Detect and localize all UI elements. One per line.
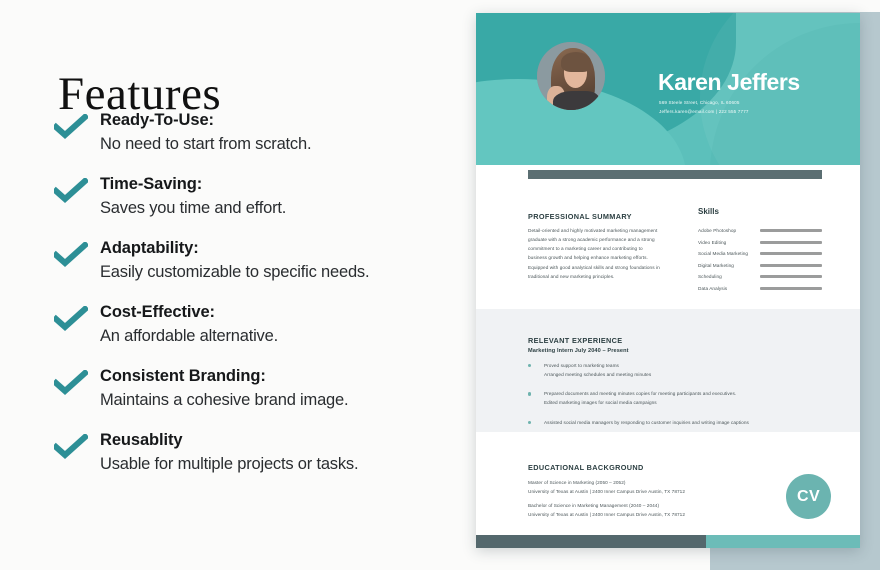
footer-dark-segment [476, 535, 706, 548]
header-divider-bar [528, 170, 822, 179]
skills-list: Adobe Photoshop Video Editing Social Med… [698, 225, 822, 294]
avatar-photo [537, 42, 605, 110]
footer-teal-segment [706, 535, 860, 548]
list-item: Prepared documents and meeting minutes c… [528, 389, 818, 407]
cv-badge: CV [786, 474, 831, 519]
skill-label: Scheduling [698, 274, 760, 279]
resume-name: Karen Jeffers [658, 69, 800, 96]
feature-description: An affordable alternative. [100, 326, 454, 347]
check-icon [54, 302, 100, 332]
skill-bar-track [760, 229, 822, 232]
resume-footer [476, 535, 860, 548]
list-item: Digital Marketing [698, 260, 822, 272]
feature-term: Consistent Branding: [100, 366, 454, 387]
feature-description: Saves you time and effort. [100, 198, 454, 219]
check-icon [54, 174, 100, 204]
resume-contact: Jeffers.karen@email.com | 222 555 7777 [659, 109, 749, 114]
skill-label: Digital Marketing [698, 263, 760, 268]
list-item: Social Media Marketing [698, 248, 822, 260]
feature-description: Maintains a cohesive brand image. [100, 390, 454, 411]
experience-role: Marketing Intern July 2040 – Present [528, 348, 629, 354]
check-icon [54, 110, 100, 140]
skill-bar-track [760, 252, 822, 255]
list-item: Time-Saving: Saves you time and effort. [54, 174, 454, 219]
check-icon [54, 430, 100, 460]
resume-preview-card: Karen Jeffers 569 Steele Street, Chicago… [476, 13, 860, 548]
bullet-icon [528, 389, 544, 395]
list-item: Reusablity Usable for multiple projects … [54, 430, 454, 475]
skill-bar-track [760, 275, 822, 278]
skill-label: Video Editing [698, 240, 760, 245]
skills-heading: Skills [698, 207, 719, 216]
resume-header: Karen Jeffers 569 Steele Street, Chicago… [476, 13, 860, 165]
feature-term: Adaptability: [100, 238, 454, 259]
skill-label: Data Analysis [698, 286, 760, 291]
summary-section: PROFESSIONAL SUMMARY Detail-oriented and… [476, 179, 860, 309]
skill-bar-track [760, 287, 822, 290]
check-icon [54, 366, 100, 396]
feature-term: Reusablity [100, 430, 454, 451]
feature-term: Ready-To-Use: [100, 110, 454, 131]
list-item: Assisted social media managers by respon… [528, 418, 818, 427]
feature-term: Time-Saving: [100, 174, 454, 195]
education-degree: Master of Science in Marketing (2050 – 2… [528, 478, 808, 487]
list-item: Video Editing [698, 237, 822, 249]
feature-term: Cost-Effective: [100, 302, 454, 323]
list-item: Cost-Effective: An affordable alternativ… [54, 302, 454, 347]
feature-description: Easily customizable to specific needs. [100, 262, 454, 283]
education-school: University of Texas at Austin | 2400 Inn… [528, 510, 808, 519]
feature-description: No need to start from scratch. [100, 134, 454, 155]
list-item: Bachelor of Science in Marketing Managem… [528, 501, 808, 519]
summary-body: Detail-oriented and highly motivated mar… [528, 226, 660, 281]
experience-line: Edited marketing images for social media… [544, 398, 818, 407]
education-section: EDUCATIONAL BACKGROUND Master of Science… [476, 432, 860, 529]
experience-line: Prepared documents and meeting minutes c… [544, 389, 818, 398]
list-item: Proved support to marketing teams Arrang… [528, 361, 818, 379]
avatar [537, 42, 605, 110]
skill-label: Adobe Photoshop [698, 228, 760, 233]
list-item: Master of Science in Marketing (2050 – 2… [528, 478, 808, 496]
check-icon [54, 238, 100, 268]
experience-line: Arranged meeting schedules and meeting m… [544, 370, 818, 379]
experience-heading: RELEVANT EXPERIENCE [528, 336, 623, 345]
list-item: Adaptability: Easily customizable to spe… [54, 238, 454, 283]
education-school: University of Texas at Austin | 2400 Inn… [528, 487, 808, 496]
bullet-icon [528, 361, 544, 367]
experience-line: Assisted social media managers by respon… [544, 418, 818, 427]
list-item: Data Analysis [698, 283, 822, 295]
experience-bullets: Proved support to marketing teams Arrang… [528, 361, 818, 437]
skill-bar-track [760, 241, 822, 244]
experience-section: RELEVANT EXPERIENCE Marketing Intern Jul… [476, 309, 860, 432]
list-item: Scheduling [698, 271, 822, 283]
education-degree: Bachelor of Science in Marketing Managem… [528, 501, 808, 510]
resume-address: 569 Steele Street, Chicago, IL 60605 [659, 100, 740, 105]
feature-list: Ready-To-Use: No need to start from scra… [54, 110, 454, 494]
list-item: Adobe Photoshop [698, 225, 822, 237]
features-panel: Features Ready-To-Use: No need to start … [0, 0, 470, 570]
experience-line: Proved support to marketing teams [544, 361, 818, 370]
education-heading: EDUCATIONAL BACKGROUND [528, 463, 644, 472]
skill-bar-track [760, 264, 822, 267]
skill-label: Social Media Marketing [698, 251, 760, 256]
list-item: Consistent Branding: Maintains a cohesiv… [54, 366, 454, 411]
bullet-icon [528, 418, 544, 424]
summary-heading: PROFESSIONAL SUMMARY [528, 212, 632, 221]
feature-description: Usable for multiple projects or tasks. [100, 454, 454, 475]
list-item: Ready-To-Use: No need to start from scra… [54, 110, 454, 155]
